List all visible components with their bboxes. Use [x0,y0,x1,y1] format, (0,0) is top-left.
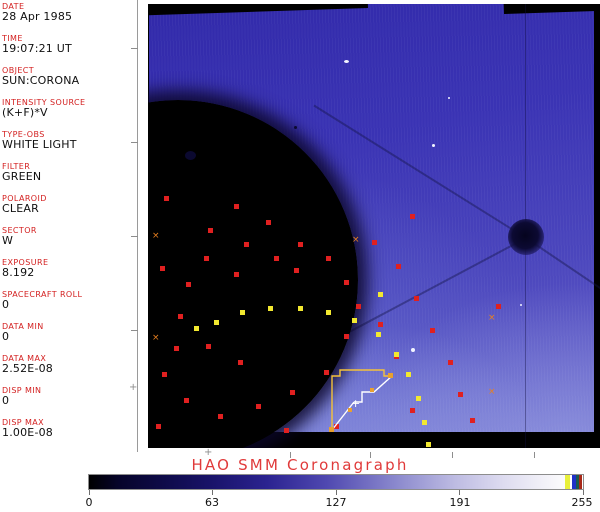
metadata-field-disp-min: DISP MIN0 [2,386,137,407]
data-marker-yellow [194,326,199,331]
colorbar-tick [459,490,460,495]
data-marker-red [256,404,261,409]
colorbar-tick-label: 191 [444,496,476,509]
data-marker-red [344,334,349,339]
data-marker-red [160,266,165,271]
data-marker-red [378,322,383,327]
metadata-field-sector: SECTORW [2,226,137,247]
data-marker-red [274,256,279,261]
metadata-value: SUN:CORONA [2,75,137,87]
page-title: HAO SMM Coronagraph [0,456,600,474]
data-marker-red [218,414,223,419]
coronagraph-display: DATE28 Apr 1985TIME19:07:21 UTOBJECTSUN:… [0,0,600,512]
data-marker-red [448,360,453,365]
annotation-vertex-marker [329,427,334,432]
data-marker-red [414,296,419,301]
data-marker-red [178,314,183,319]
colorbar[interactable] [88,474,584,490]
metadata-value: WHITE LIGHT [2,139,137,151]
metadata-value: 28 Apr 1985 [2,11,137,23]
metadata-value: (K+F)*V [2,107,137,119]
data-marker-yellow [378,292,383,297]
data-marker-yellow [326,310,331,315]
data-marker-red [174,346,179,351]
data-marker-yellow [214,320,219,325]
data-marker-x: × [488,388,496,397]
region-annotation-polygon[interactable]: + [324,360,410,432]
data-marker-red [326,256,331,261]
data-marker-yellow [394,352,399,357]
axis-tick-left [131,330,138,331]
annotation-svg: + [324,360,410,432]
data-marker-red [234,204,239,209]
data-marker-yellow [376,332,381,337]
data-marker-red [356,304,361,309]
metadata-value: 0 [2,395,137,407]
data-marker-red [186,282,191,287]
data-marker-yellow [352,318,357,323]
metadata-field-spacecraft-roll: SPACECRAFT ROLL0 [2,290,137,311]
colorbar-tick [89,490,90,495]
data-marker-red [290,390,295,395]
star-point [411,348,415,352]
metadata-field-object: OBJECTSUN:CORONA [2,66,137,87]
metadata-value: CLEAR [2,203,137,215]
data-marker-yellow [426,442,431,447]
metadata-value: 0 [2,331,137,343]
metadata-label: DATA MIN [2,322,137,331]
star-point [432,144,435,147]
axis-tick-left [131,48,138,49]
data-marker-red [204,256,209,261]
data-marker-red [372,240,377,245]
metadata-field-filter: FILTERGREEN [2,162,137,183]
metadata-value: 1.00E-08 [2,427,137,439]
data-marker-red [458,392,463,397]
data-marker-red [470,418,475,423]
star-point [520,304,522,306]
data-marker-red [244,242,249,247]
metadata-sidebar: DATE28 Apr 1985TIME19:07:21 UTOBJECTSUN:… [0,0,137,452]
data-marker-red [396,264,401,269]
metadata-label: SECTOR [2,226,137,235]
data-marker-x: × [352,236,360,245]
metadata-value: 19:07:21 UT [2,43,137,55]
metadata-field-disp-max: DISP MAX1.00E-08 [2,418,137,439]
data-marker-red [184,398,189,403]
colorbar-tick-label: 255 [566,496,598,509]
coronagraph-image[interactable]: × × × × × + [148,4,600,448]
metadata-value: 0 [2,299,137,311]
dark-artifact-spot [294,126,297,129]
data-marker-x: × [488,314,496,323]
data-marker-yellow [268,306,273,311]
data-marker-x: × [152,334,160,343]
metadata-field-exposure: EXPOSURE8.192 [2,258,137,279]
data-marker-red [162,372,167,377]
data-marker-red [208,228,213,233]
dark-artifact-spot [185,151,196,160]
data-marker-red [496,304,501,309]
annotation-vertex-marker [388,373,393,378]
frame-edge-right [594,4,600,448]
metadata-label: DISP MIN [2,386,137,395]
data-marker-red [410,214,415,219]
data-marker-yellow [422,420,427,425]
metadata-field-data-min: DATA MIN0 [2,322,137,343]
data-marker-red [206,344,211,349]
axis-tick-left [131,142,138,143]
annotation-vertex-marker [370,388,374,392]
colorbar-tick-label: 63 [198,496,226,509]
data-marker-red [156,424,161,429]
metadata-field-type-obs: TYPE-OBSWHITE LIGHT [2,130,137,151]
metadata-field-time: TIME19:07:21 UT [2,34,137,55]
colorbar-tick [583,490,584,495]
colorbar-tick-label: 127 [320,496,352,509]
star-point [344,60,349,63]
colorbar-tick [336,490,337,495]
colorbar-tick-label: 0 [79,496,99,509]
data-marker-red [430,328,435,333]
metadata-field-data-max: DATA MAX2.52E-08 [2,354,137,375]
metadata-field-polaroid: POLAROIDCLEAR [2,194,137,215]
metadata-value: 2.52E-08 [2,363,137,375]
data-marker-red [284,428,289,433]
data-marker-yellow [416,396,421,401]
data-marker-yellow [240,310,245,315]
data-marker-red [344,280,349,285]
metadata-label: SPACECRAFT ROLL [2,290,137,299]
data-marker-yellow [298,306,303,311]
colorbar-frame [88,474,584,490]
axis-tick-left [131,236,138,237]
data-marker-red [234,272,239,277]
colorbar-tick [212,490,213,495]
metadata-value: GREEN [2,171,137,183]
data-marker-red [298,242,303,247]
axis-plus-left: + [129,383,137,393]
data-marker-red [238,360,243,365]
data-marker-x: × [152,232,160,241]
data-marker-red [266,220,271,225]
data-marker-red [294,268,299,273]
occulter-bead [508,219,544,255]
star-point [448,97,450,99]
data-marker-red [410,408,415,413]
metadata-value: W [2,235,137,247]
metadata-field-intensity-source: INTENSITY SOURCE(K+F)*V [2,98,137,119]
annotation-center-plus: + [351,397,360,410]
metadata-value: 8.192 [2,267,137,279]
metadata-field-date: DATE28 Apr 1985 [2,2,137,23]
data-marker-red [164,196,169,201]
